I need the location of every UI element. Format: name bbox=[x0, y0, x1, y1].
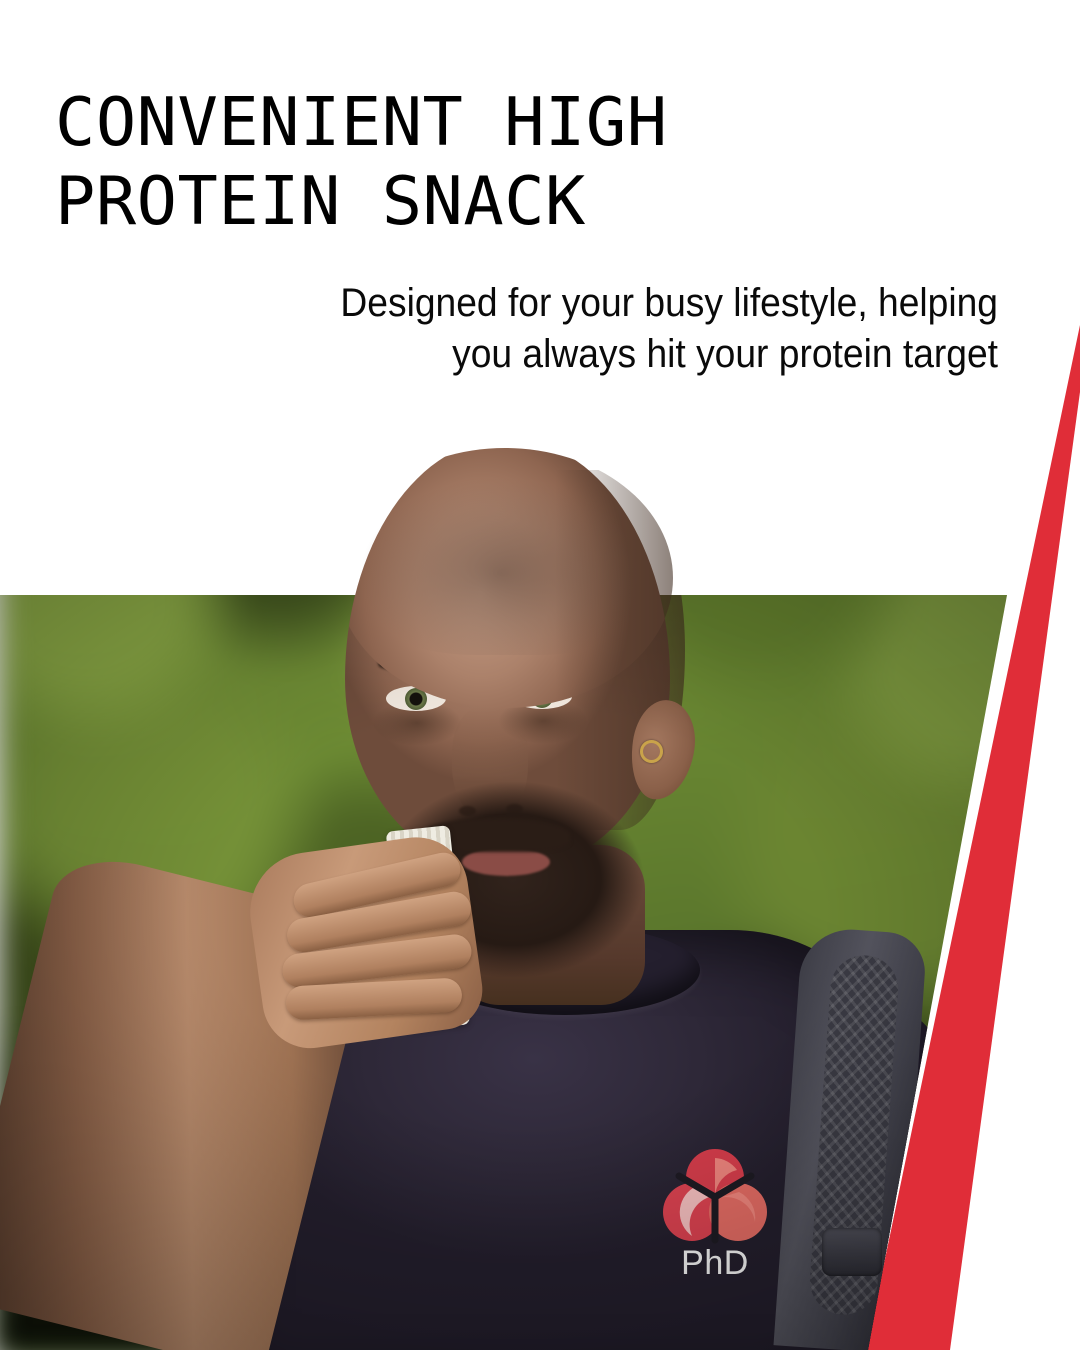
phd-logo: PhD bbox=[655, 1148, 775, 1288]
earring-icon bbox=[640, 740, 663, 763]
page-title: CONVENIENT HIGH PROTEIN SNACK bbox=[55, 83, 915, 241]
promotional-banner: PhD CONVENIENT HIGH PROTEIN SNACK Design… bbox=[0, 0, 1080, 1350]
subtitle: Designed for your busy lifestyle, helpin… bbox=[254, 278, 998, 380]
phd-wordmark: PhD bbox=[655, 1244, 775, 1283]
lips bbox=[462, 848, 550, 876]
phd-trefoil-icon bbox=[663, 1148, 767, 1244]
backpack-buckle bbox=[822, 1228, 882, 1276]
